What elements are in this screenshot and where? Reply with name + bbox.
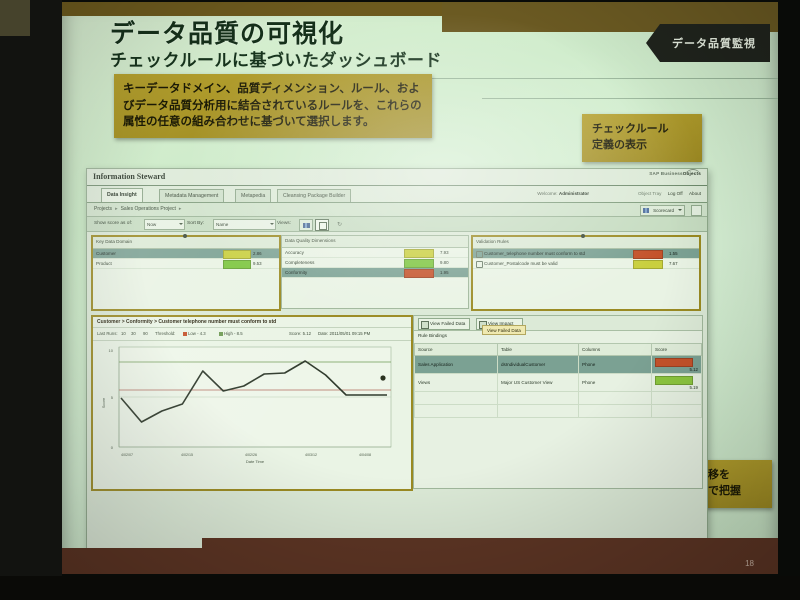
panel-key-data-domain[interactable]: Key Data Domain Customer 2.86 Product 9.… <box>91 235 281 311</box>
table-row[interactable]: Sales Application dsIndividualCustomer P… <box>415 356 702 374</box>
score-bar <box>655 376 693 385</box>
table-row[interactable] <box>415 405 702 418</box>
app-title: Information Steward <box>93 172 165 181</box>
cell-table: dsIndividualCustomer <box>498 356 579 374</box>
table-header-row: Source Table Columns Score <box>415 344 702 356</box>
current-score-label: Score: 5.12 <box>289 331 311 336</box>
score-as-of-value: Now <box>147 222 156 227</box>
last-runs-90[interactable]: 90 <box>143 331 148 336</box>
rule-bindings-title: Rule Bindings <box>414 331 702 343</box>
x-tick-2: 4/02/26 <box>245 453 257 457</box>
column-score[interactable]: Score <box>652 344 702 356</box>
tab-metadata-management[interactable]: Metadata Management <box>159 189 224 202</box>
y-tick-5: 5 <box>111 395 114 400</box>
row-name: Customer <box>96 251 116 256</box>
breadcrumb-item-project[interactable]: Sales Operations Project <box>121 206 176 212</box>
sort-by-select[interactable]: Name <box>213 219 276 230</box>
cell-empty <box>652 392 702 405</box>
list-item[interactable]: Product 9.53 <box>93 259 279 269</box>
score-bar <box>404 249 434 258</box>
slide-bottom-band-accent <box>202 538 778 574</box>
cell-empty <box>652 405 702 418</box>
panel-title: Key Data Domain <box>93 237 279 249</box>
last-runs-30[interactable]: 30 <box>131 331 136 336</box>
breadcrumb-item-projects[interactable]: Projects <box>94 206 112 212</box>
threshold-low-text: Low - 4.3 <box>188 331 206 336</box>
column-table[interactable]: Table <box>498 344 579 356</box>
score-value: 7.67 <box>669 261 678 266</box>
current-date-label: Date: 2011/05/01 09:15 PM <box>318 331 370 336</box>
cell-empty <box>579 405 652 418</box>
last-runs-10[interactable]: 10 <box>121 331 126 336</box>
view-failed-data-button[interactable]: View Failed Data <box>418 318 470 330</box>
panel-title: Data Quality Dimensions <box>282 236 468 248</box>
list-item[interactable]: Customer_telephone number must conform t… <box>473 249 699 259</box>
information-steward-window[interactable]: Information Steward SAP BusinessObjects … <box>86 168 708 558</box>
score-as-of-select[interactable]: Now <box>144 219 185 230</box>
bar-chart-icon <box>303 223 310 228</box>
app-header: Information Steward SAP BusinessObjects <box>87 169 707 186</box>
score-trend-chart-panel[interactable]: Customer > Conformity > Customer telepho… <box>91 315 413 491</box>
detail-row: Customer > Conformity > Customer telepho… <box>87 313 707 493</box>
y-axis-label: Score <box>101 397 106 408</box>
view-card-button[interactable] <box>315 219 329 231</box>
score-panels-row: Key Data Domain Customer 2.86 Product 9.… <box>87 232 707 313</box>
rule-bindings-panel[interactable]: View Failed Data View Impact Rule Bindin… <box>413 315 703 489</box>
score-bar <box>633 260 663 269</box>
row-name: Customer_Postalcode must be valid <box>484 261 558 266</box>
row-name: Product <box>96 261 112 266</box>
presentation-slide: データ品質の可視化 チェックルールに基づいたダッシュボード データ品質監視 キー… <box>62 2 778 574</box>
projected-slide-photo: データ品質の可視化 チェックルールに基づいたダッシュボード データ品質監視 キー… <box>0 0 800 600</box>
chart-plot-area: 10 5 0 Score 4/02/07 4/02/15 4/02/26 4/0… <box>97 343 407 465</box>
cell-source: Views <box>415 374 498 392</box>
cell-columns: Phone <box>579 374 652 392</box>
score-bar <box>633 250 663 259</box>
callout-rule-definition: チェックルール 定義の表示 <box>582 114 702 162</box>
refresh-icon[interactable]: ↻ <box>337 221 342 228</box>
cell-empty <box>498 405 579 418</box>
cell-empty <box>415 405 498 418</box>
page-subtitle: チェックルールに基づいたダッシュボード <box>110 46 442 71</box>
room-dark-edge-left <box>0 0 62 600</box>
scorecard-label: Scorecard <box>653 208 674 213</box>
room-dark-block <box>0 0 30 36</box>
current-user: Administrator <box>559 191 589 196</box>
top-links[interactable]: Object Tray Log Off About <box>633 191 701 196</box>
score-line-chart: 10 5 0 Score 4/02/07 4/02/15 4/02/26 4/0… <box>97 343 403 465</box>
cell-source: Sales Application <box>415 356 498 374</box>
divider-line-2 <box>482 98 778 99</box>
row-name: Accuracy <box>285 250 304 255</box>
link-object-tray[interactable]: Object Tray <box>638 191 662 196</box>
list-item[interactable]: Customer 2.86 <box>93 249 279 259</box>
x-tick-1: 4/02/15 <box>181 453 193 457</box>
x-axis-label: Date Time <box>246 459 265 464</box>
chart-toolbar[interactable]: Last Runs: 10 30 90 Threshold: Low - 4.3… <box>93 328 411 341</box>
breadcrumb-bar: Projects▸Sales Operations Project▸ Score… <box>87 203 707 217</box>
cell-columns: Phone <box>579 356 652 374</box>
room-dark-edge-bottom <box>0 576 800 600</box>
list-item[interactable]: Conformity 1.95 <box>282 268 468 278</box>
table-row[interactable] <box>415 392 702 405</box>
panel-drag-handle[interactable] <box>581 234 585 238</box>
breadcrumb[interactable]: Projects▸Sales Operations Project▸ <box>94 206 184 212</box>
score-bar <box>404 269 434 278</box>
callout-selection: キーデータドメイン、品質ディメンション、ルール、およびデータ品質分析用に結合され… <box>114 74 432 138</box>
low-threshold-swatch <box>183 332 187 336</box>
row-name: Conformity <box>285 270 307 275</box>
cell-score: 5.19 <box>652 374 702 392</box>
filter-toolbar[interactable]: Show score as of: Now Sort By: Name View… <box>87 217 707 232</box>
sort-by-label: Sort By: <box>187 221 204 226</box>
maximize-button[interactable] <box>691 205 702 216</box>
table-row[interactable]: Views Major US Customer View Phone 5.19 <box>415 374 702 392</box>
score-value: 9.80 <box>440 260 449 265</box>
bar-chart-icon <box>643 208 649 213</box>
list-item[interactable]: Customer_Postalcode must be valid 7.67 <box>473 259 699 269</box>
welcome-label: Welcome: Administrator <box>537 191 589 196</box>
view-failed-data-label: View Failed Data <box>430 321 465 326</box>
chevron-down-icon <box>270 223 274 225</box>
threshold-low: Low - 4.3 <box>183 331 206 336</box>
list-item[interactable]: Accuracy 7.93 <box>282 248 468 258</box>
chevron-down-icon <box>179 223 183 225</box>
threshold-high-text: High - 8.5 <box>224 331 243 336</box>
scorecard-dropdown[interactable]: Scorecard <box>640 205 685 216</box>
link-log-off[interactable]: Log Off <box>668 191 683 196</box>
grid-toolbar[interactable]: View Failed Data View Impact <box>414 316 702 331</box>
score-value: 2.86 <box>253 251 262 256</box>
sort-by-value: Name <box>216 222 228 227</box>
panel-drag-handle[interactable] <box>183 234 187 238</box>
page-title: データ品質の可視化 <box>110 14 344 50</box>
view-chart-button[interactable] <box>299 219 313 231</box>
x-tick-4: 4/04/08 <box>359 453 371 457</box>
cell-empty <box>579 392 652 405</box>
rule-bindings-table[interactable]: Source Table Columns Score Sales Applica… <box>414 343 702 418</box>
list-item[interactable]: Completeness 9.80 <box>282 258 468 268</box>
score-value: 7.93 <box>440 250 449 255</box>
score-bar <box>223 250 251 259</box>
x-tick-3: 4/03/12 <box>305 453 317 457</box>
high-threshold-swatch <box>219 332 223 336</box>
chart-title: Customer > Conformity > Customer telepho… <box>93 317 411 328</box>
y-tick-10: 10 <box>109 348 114 353</box>
panel-validation-rules[interactable]: Validation Rules Customer_telephone numb… <box>471 235 701 311</box>
x-tick-0: 4/02/07 <box>121 453 133 457</box>
tab-data-insight[interactable]: Data Insight <box>101 188 143 202</box>
main-tab-strip[interactable]: Data Insight Metadata Management Metaped… <box>87 186 707 203</box>
divider-line-1 <box>392 78 778 79</box>
section-tag-badge: データ品質監視 <box>646 24 770 62</box>
column-columns[interactable]: Columns <box>579 344 652 356</box>
score-as-of-label: Show score as of: <box>94 221 132 226</box>
panel-data-quality-dimensions[interactable]: Data Quality Dimensions Accuracy 7.93 Co… <box>281 235 469 309</box>
card-view-icon <box>319 222 327 230</box>
score-value: 5.12 <box>689 367 698 372</box>
cell-empty <box>415 392 498 405</box>
threshold-high: High - 8.5 <box>219 331 243 336</box>
cell-table: Major US Customer View <box>498 374 579 392</box>
score-value: 1.55 <box>669 251 678 256</box>
column-source[interactable]: Source <box>415 344 498 356</box>
table-icon <box>421 321 429 329</box>
rule-icon <box>476 261 483 268</box>
last-runs-label: Last Runs: <box>97 331 118 336</box>
current-point-marker <box>380 375 385 380</box>
vendor-logo: SAP BusinessObjects <box>649 171 701 176</box>
link-about[interactable]: About <box>689 191 701 196</box>
chevron-down-icon <box>678 209 682 211</box>
cell-empty <box>498 392 579 405</box>
score-value: 1.95 <box>440 270 449 275</box>
panel-title: Validation Rules <box>473 237 699 249</box>
score-bar <box>223 260 251 269</box>
tooltip-view-failed-data: View Failed Data <box>482 325 526 335</box>
score-bar <box>404 259 434 268</box>
row-name: Customer_telephone number must conform t… <box>484 251 585 256</box>
y-tick-0: 0 <box>111 445 114 450</box>
score-value: 5.19 <box>689 385 698 390</box>
views-label: Views: <box>277 221 291 226</box>
tab-metapedia[interactable]: Metapedia <box>235 189 271 202</box>
slide-page-number: 18 <box>745 559 754 568</box>
score-bar <box>655 358 693 367</box>
rule-icon <box>476 251 483 258</box>
cell-score: 5.12 <box>652 356 702 374</box>
welcome-text: Welcome: <box>537 191 557 196</box>
row-name: Completeness <box>285 260 314 265</box>
tab-cleansing-package-builder[interactable]: Cleansing Package Builder <box>277 189 351 202</box>
score-value: 9.53 <box>253 261 262 266</box>
threshold-label: Threshold: <box>155 331 175 336</box>
